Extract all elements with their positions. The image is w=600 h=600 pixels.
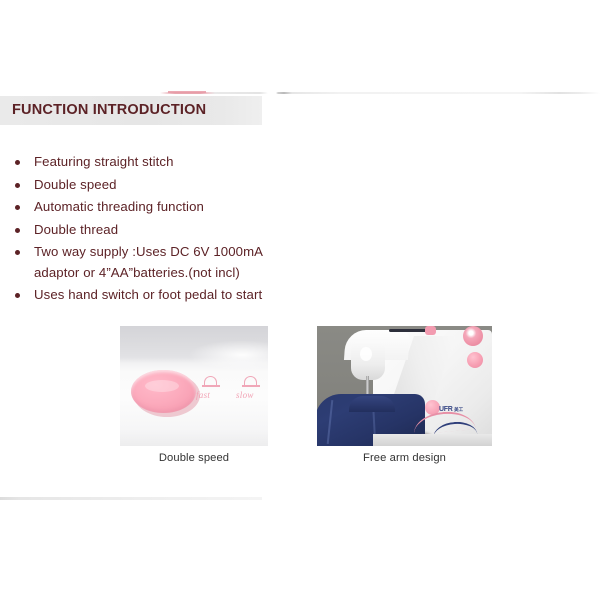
figure-caption: Free arm design [317, 452, 492, 464]
thread-spool-icon [425, 326, 436, 335]
brand-logo-text: UFR [439, 406, 453, 413]
photo-highlight [188, 340, 268, 370]
bullet-icon [15, 160, 20, 165]
list-item: Double thread [0, 220, 330, 241]
list-item: Automatic threading function [0, 197, 330, 218]
list-item: Featuring straight stitch [0, 152, 330, 173]
list-item-label: Two way supply :Uses DC 6V 1000mA [34, 242, 330, 263]
brand-logo: UFR 美工 [439, 406, 473, 421]
fast-speed-label: fast [196, 390, 210, 400]
arch-base [242, 385, 260, 387]
brand-logo-subtext: 美工 [454, 407, 463, 412]
list-item-label: Uses hand switch or foot pedal to start [34, 285, 330, 306]
bullet-icon [15, 205, 20, 210]
fast-speed-icon [202, 376, 220, 387]
list-item: Uses hand switch or foot pedal to start [0, 285, 330, 306]
bullet-icon [15, 183, 20, 188]
figure-free-arm: UFR 美工 Free arm design [317, 326, 492, 446]
list-item-label: Featuring straight stitch [34, 152, 330, 173]
figure-row: fast slow Double speed [0, 326, 600, 471]
arch-shape [244, 376, 257, 385]
figure-double-speed: fast slow Double speed [120, 326, 268, 446]
bullet-icon [15, 228, 20, 233]
list-item-label: Double thread [34, 220, 330, 241]
slow-speed-icon [242, 376, 260, 387]
bottom-divider-rule [0, 497, 262, 500]
speed-knob [131, 370, 196, 413]
product-description-page: FUNCTION INTRODUCTION Featuring straight… [0, 0, 600, 600]
list-item-label: Double speed [34, 175, 330, 196]
handwheel [463, 326, 483, 346]
tension-knob [467, 352, 483, 368]
bullet-icon [15, 250, 20, 255]
list-item: Two way supply :Uses DC 6V 1000mA adapto… [0, 242, 330, 283]
page-title: FUNCTION INTRODUCTION [12, 102, 206, 118]
top-divider-rule [0, 92, 600, 94]
list-item-label: Automatic threading function [34, 197, 330, 218]
machine-base [373, 434, 492, 446]
top-divider-pink-accent [168, 91, 206, 93]
feature-list: Featuring straight stitch Double speed A… [0, 152, 330, 308]
double-speed-photo: fast slow [120, 326, 268, 446]
arch-shape [204, 376, 217, 385]
arch-base [202, 385, 220, 387]
free-arm-photo: UFR 美工 [317, 326, 492, 446]
list-item: Double speed [0, 175, 330, 196]
machine-head [351, 342, 385, 380]
slow-speed-label: slow [236, 390, 254, 400]
fabric-fold [349, 396, 395, 412]
bullet-icon [15, 293, 20, 298]
figure-caption: Double speed [120, 452, 268, 464]
list-item-label-continued: adaptor or 4”AA”batteries.(not incl) [34, 263, 330, 284]
